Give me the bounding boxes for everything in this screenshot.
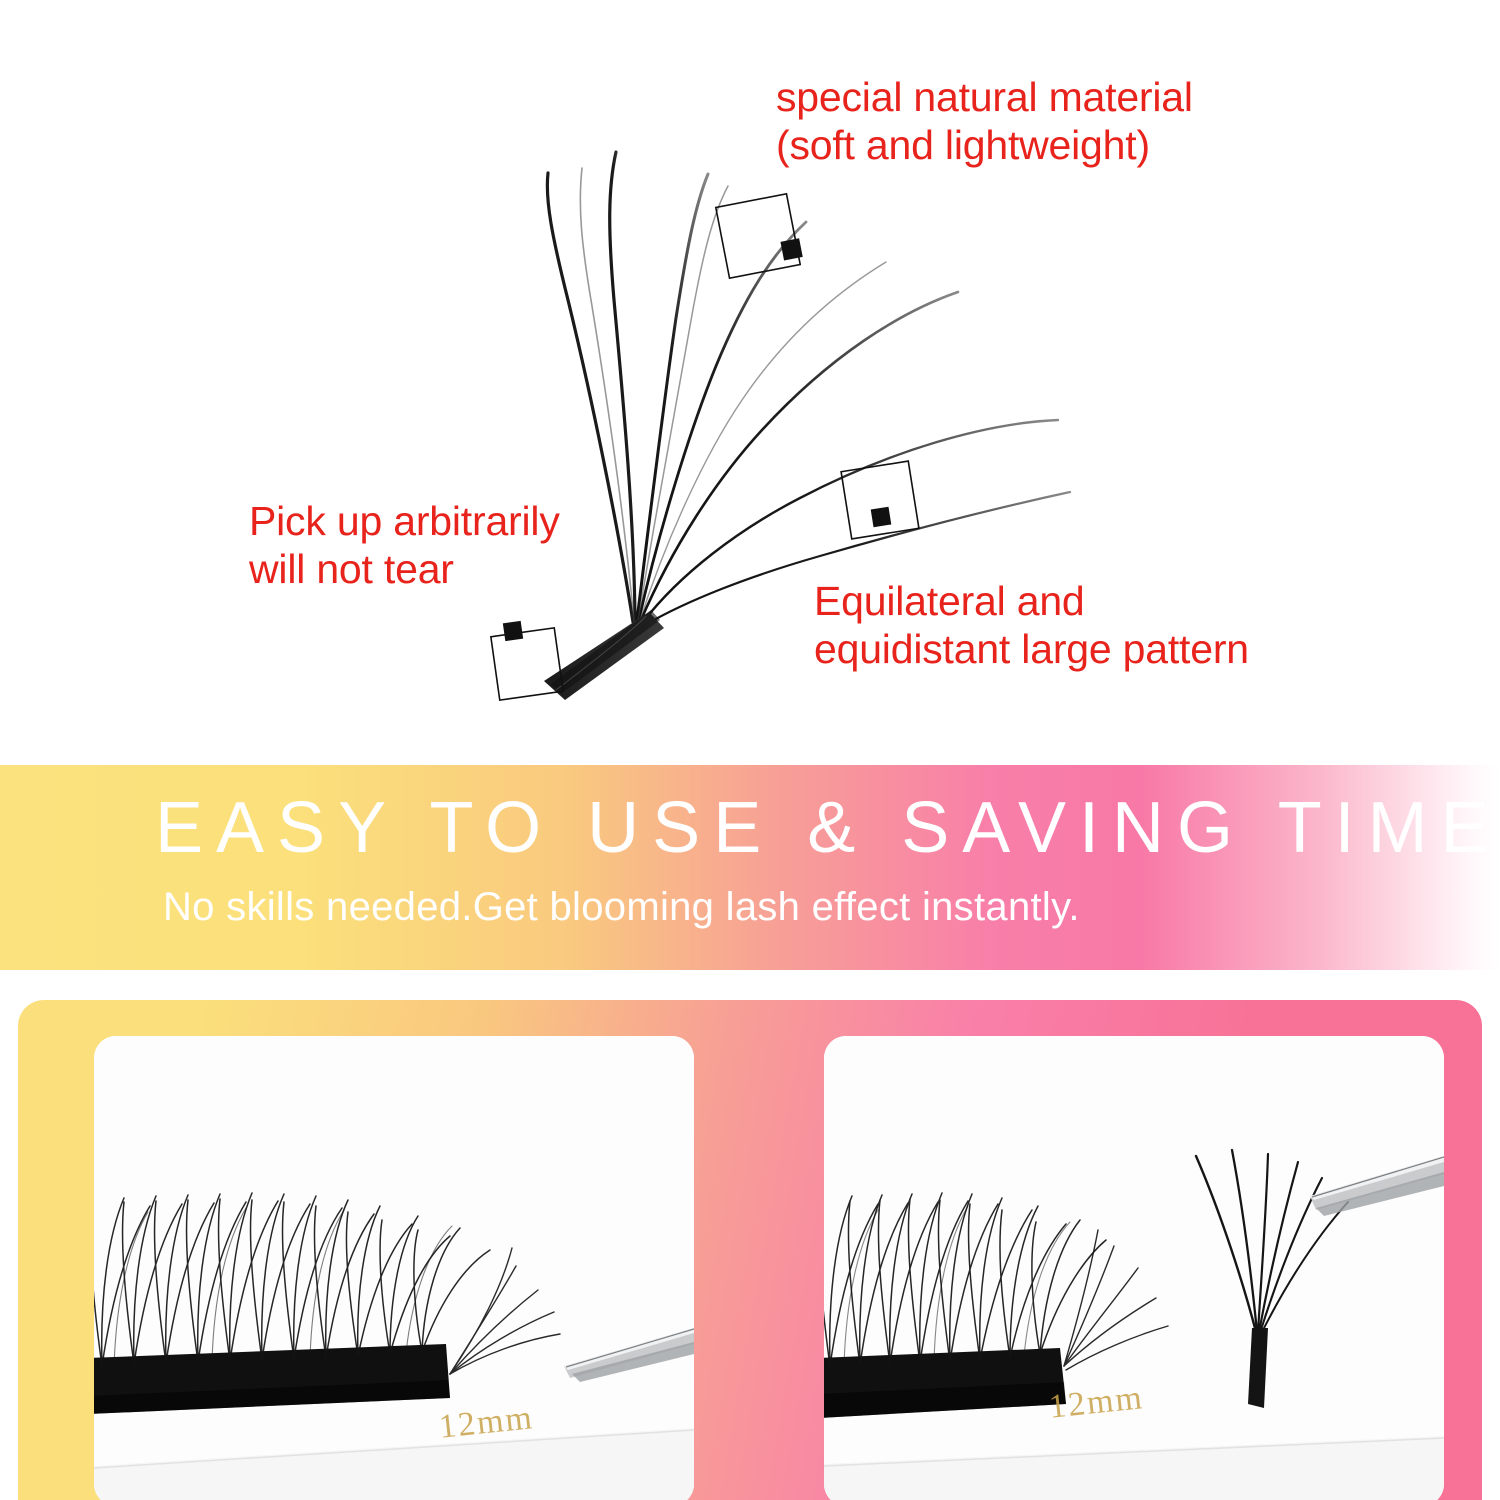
lash-fan-diagram	[0, 0, 1500, 765]
banner-title: EASY TO USE & SAVING TIME	[155, 787, 1500, 869]
callout-pick-up: Pick up arbitrarily will not tear	[249, 498, 560, 594]
callout-equilateral: Equilateral and equidistant large patter…	[814, 578, 1249, 674]
gallery-panel: 12mm	[18, 1000, 1482, 1500]
lash-fibers	[547, 152, 1070, 625]
premade-fan-photo	[824, 1036, 1444, 1500]
headline-banner: EASY TO USE & SAVING TIME No skills need…	[0, 765, 1500, 970]
hero-section: special natural material (soft and light…	[0, 0, 1500, 765]
lash-fibers-secondary	[580, 168, 886, 621]
photo-card-premade-fan: 12mm	[824, 1036, 1444, 1500]
banner-subtitle: No skills needed.Get blooming lash effec…	[163, 885, 1080, 930]
lash-tray-photo	[94, 1036, 694, 1500]
callout-marker-top	[716, 194, 803, 278]
callout-special-material: special natural material (soft and light…	[776, 74, 1193, 170]
photo-card-lash-tray: 12mm	[94, 1036, 694, 1500]
product-infographic-page: special natural material (soft and light…	[0, 0, 1500, 1500]
